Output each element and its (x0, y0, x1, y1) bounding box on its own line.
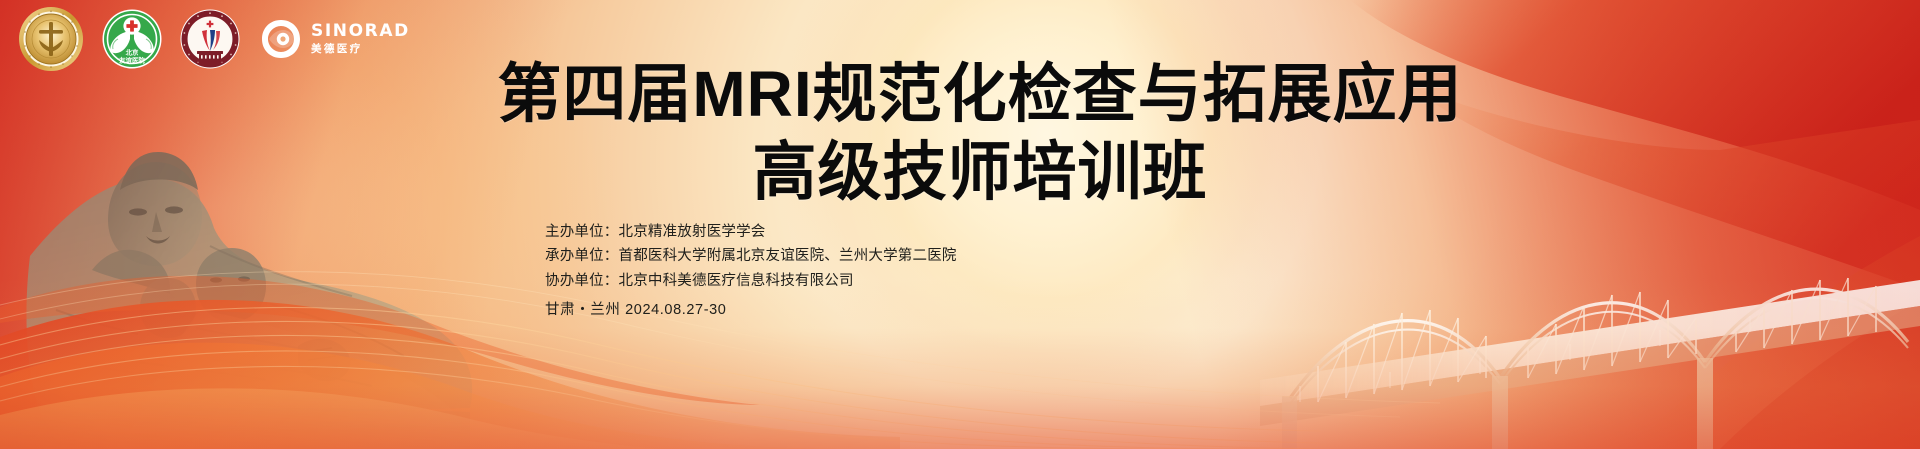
sinorad-logo: SINORAD 美德医疗 (258, 16, 410, 62)
info-organizing-institutions: 承办单位：首都医科大学附属北京友谊医院、兰州大学第二医院 (545, 245, 957, 267)
info-venue-and-date: 甘肃・兰州 2024.08.27-30 (545, 299, 957, 321)
friendship-hospital-logo-line1: 北京 (126, 48, 139, 57)
friendship-hospital-logo-line2: 友谊医院 (119, 56, 145, 65)
sinorad-logo-en-text: SINORAD (311, 23, 410, 40)
info-coorganizing-company: 协办单位：北京中科美德医疗信息科技有限公司 (545, 270, 957, 292)
beijing-precision-radiology-society-logo (18, 6, 84, 72)
conference-banner: 北京 友谊医院 (0, 0, 1920, 449)
info-host-organization: 主办单位：北京精准放射医学学会 (545, 221, 957, 243)
sinorad-eye-mark (258, 16, 304, 62)
lanzhou-university-second-hospital-logo (180, 9, 240, 69)
organization-logo-row: 北京 友谊医院 (18, 6, 410, 72)
beijing-friendship-hospital-logo: 北京 友谊医院 (102, 9, 162, 69)
sinorad-logo-cn-text: 美德医疗 (311, 44, 410, 55)
event-info-block: 主办单位：北京精准放射医学学会 承办单位：首都医科大学附属北京友谊医院、兰州大学… (545, 221, 957, 322)
